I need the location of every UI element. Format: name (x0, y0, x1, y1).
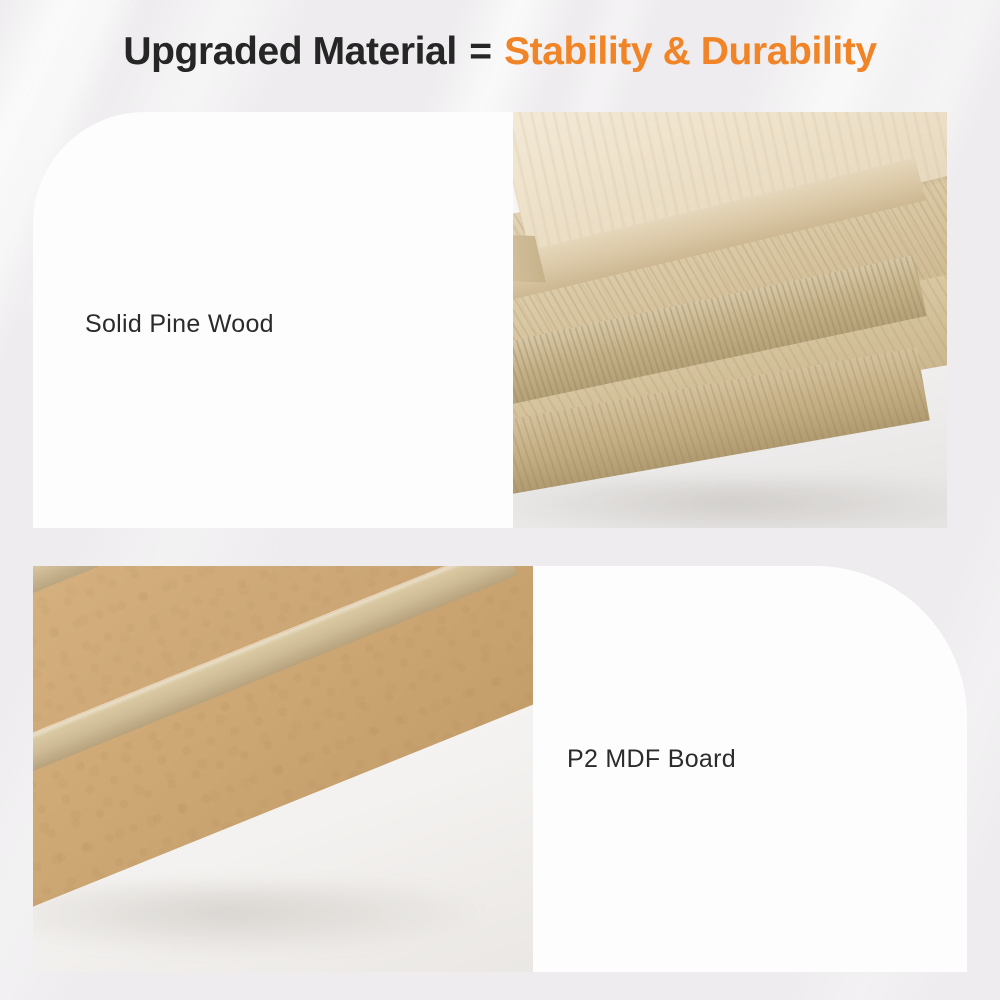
page-title-accent: Stability & Durability (504, 30, 877, 73)
stacked-mdf-boards-photo (33, 566, 533, 972)
card-label-p2-mdf-board: P2 MDF Board (567, 745, 736, 774)
stacked-pine-boards-photo (513, 112, 947, 528)
page-title-equals: = (467, 30, 493, 73)
infographic-canvas: Upgraded Material = Stability & Durabili… (0, 0, 1000, 1000)
header: Upgraded Material = Stability & Durabili… (0, 28, 1000, 77)
page-title-dark: Upgraded Material (123, 30, 456, 73)
mdf-stack-shadow (33, 884, 483, 954)
pine-stack-shadow (513, 478, 947, 528)
card-label-solid-pine-wood: Solid Pine Wood (85, 310, 274, 339)
card-p2-mdf-board (33, 566, 967, 972)
page-title: Upgraded Material = Stability & Durabili… (0, 28, 1000, 77)
